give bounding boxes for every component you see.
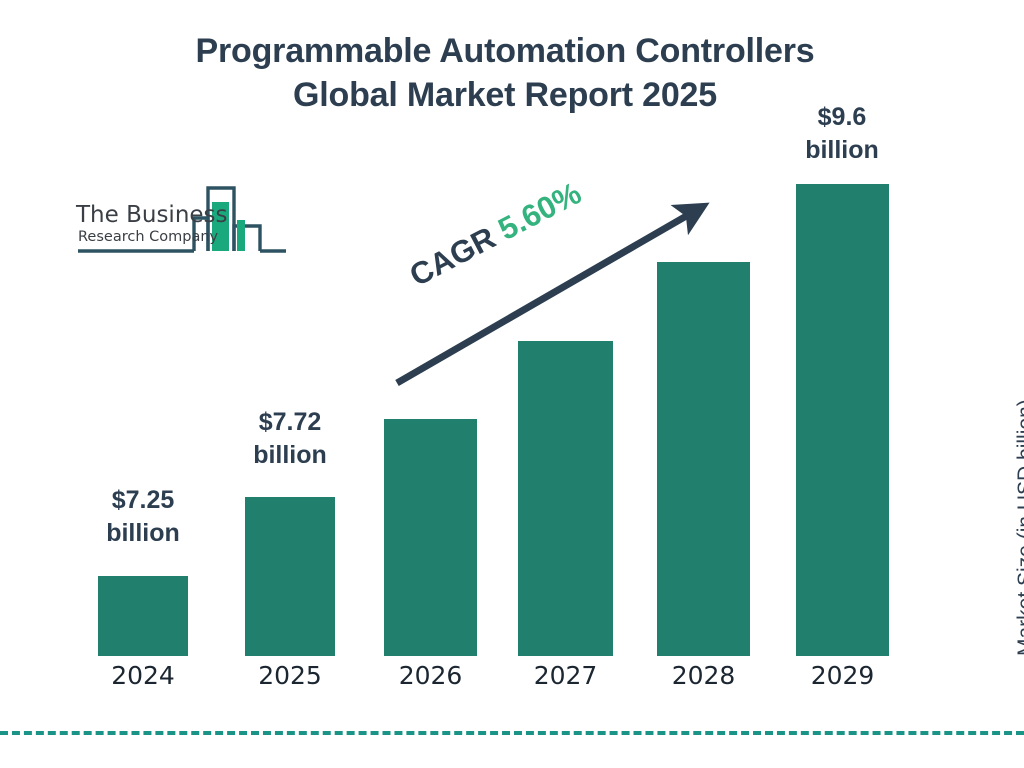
bar-value-unit-2029: billion [805,136,879,164]
bar-value-amount-2024: $7.25 [112,486,175,514]
bar-2027[interactable] [518,341,613,656]
x-tick-2025: 2025 [245,661,335,690]
x-tick-2026: 2026 [384,661,477,690]
footer-divider [0,731,1024,735]
bar-2024[interactable] [98,576,188,656]
bar-value-unit-2025: billion [253,441,327,469]
bar-2028[interactable] [657,262,750,656]
bar-2026[interactable] [384,419,477,656]
bar-2025[interactable] [245,497,335,656]
x-tick-2027: 2027 [518,661,613,690]
bar-2029[interactable] [796,184,889,656]
x-tick-2028: 2028 [657,661,750,690]
x-tick-2029: 2029 [796,661,889,690]
bar-value-amount-2025: $7.72 [259,408,322,436]
x-tick-2024: 2024 [98,661,188,690]
bar-value-label-2024: $7.25 billion [63,484,223,549]
bar-value-label-2029: $9.6 billion [762,101,922,166]
bar-value-unit-2024: billion [106,519,180,547]
bar-value-label-2025: $7.72 billion [210,406,370,471]
y-axis-title: Market Size (in USD billion) [1014,326,1024,656]
chart-canvas: Programmable Automation Controllers Glob… [0,0,1024,768]
plot-area: $7.25 billion $7.72 billion $9.6 billion… [0,0,1024,768]
bar-value-amount-2029: $9.6 [818,103,867,131]
